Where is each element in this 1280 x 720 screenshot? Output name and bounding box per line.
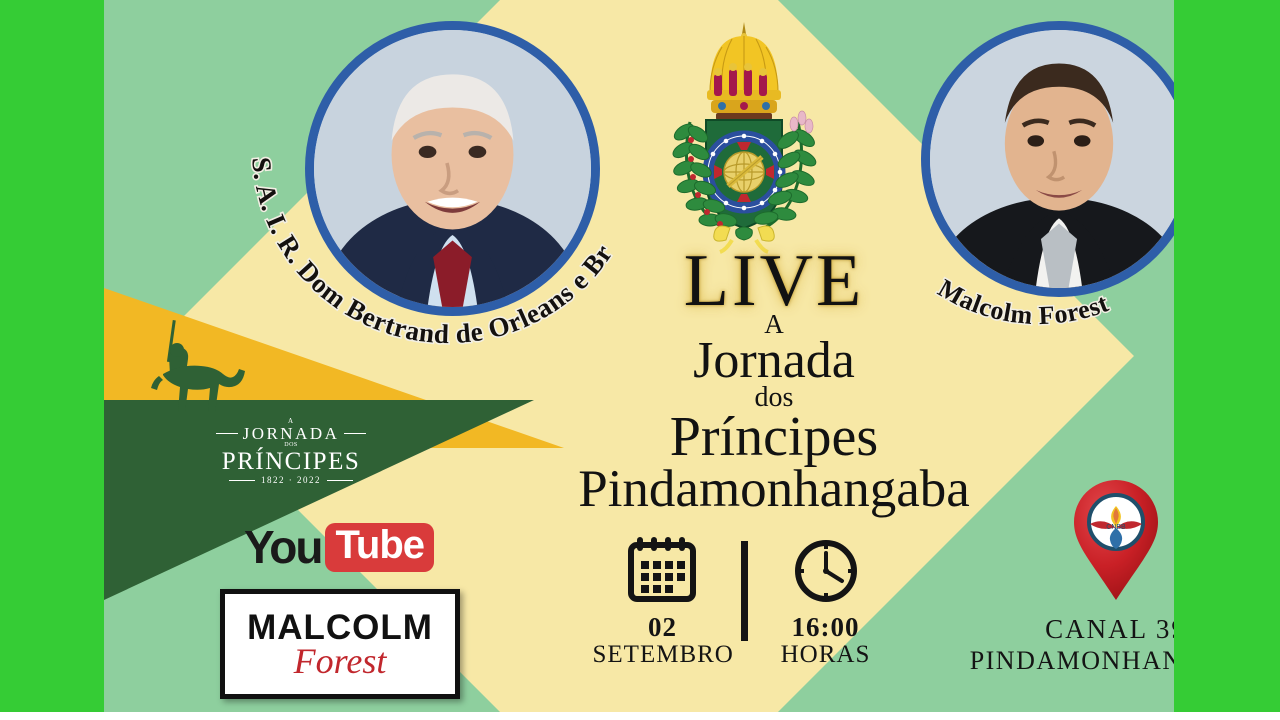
event-month: SETEMBRO — [593, 641, 733, 669]
title-block: LIVE A Jornada dos Príncipes Pindamonhan… — [494, 250, 1054, 516]
youtube-tube-badge: Tube — [325, 523, 434, 572]
youtube-you-text: You — [244, 520, 321, 574]
right-green-bar — [1174, 0, 1280, 712]
title-jornada: Jornada — [494, 336, 1054, 385]
jornada-logo-principes: PRÍNCIPES — [216, 449, 366, 474]
map-pin-icon: CNBB — [1068, 478, 1164, 602]
title-live: LIVE — [494, 250, 1054, 313]
datetime-divider — [741, 541, 748, 641]
brazilian-imperial-coat-of-arms — [644, 14, 844, 264]
event-datetime-block: 02 SETEMBRO 16:00 — [584, 535, 904, 669]
jornada-logo-rule-right — [344, 433, 366, 434]
poster-canvas: A JORNADA DOS PRÍNCIPES 1822 · 2022 You … — [0, 0, 1280, 720]
malcolm-forest-logo-inner: MALCOLM Forest — [225, 594, 455, 694]
jornada-logo-years-rule-left — [229, 480, 255, 481]
malcolm-forest-logo[interactable]: MALCOLM Forest — [220, 589, 460, 699]
youtube-logo[interactable]: You Tube — [244, 520, 434, 574]
jornada-logo-rule-left — [216, 433, 238, 434]
event-time-column: 16:00 HORAS — [756, 535, 896, 669]
jornada-logo-years: 1822 · 2022 — [261, 476, 321, 485]
clock-icon — [791, 535, 861, 603]
channel-name: CANAL 39 — [966, 613, 1174, 645]
event-time-label: HORAS — [756, 641, 896, 669]
title-principes: Príncipes — [494, 410, 1054, 465]
poster-inner-canvas: A JORNADA DOS PRÍNCIPES 1822 · 2022 You … — [104, 0, 1174, 712]
left-green-bar — [0, 0, 104, 712]
channel-city: PINDAMONHANGABA — [966, 645, 1174, 676]
jornada-logo-jornada: JORNADA — [243, 425, 340, 442]
channel-block: CNBB CANAL 39 PINDAMONHANGABA — [966, 478, 1174, 677]
jornada-logo-years-rule-right — [327, 480, 353, 481]
malcolm-forest-malcolm-text: MALCOLM — [247, 610, 433, 645]
event-date-column: 02 SETEMBRO — [593, 535, 733, 669]
event-day: 02 — [593, 614, 733, 641]
jornada-logo-years-row: 1822 · 2022 — [216, 476, 366, 485]
jornada-dos-principes-logo: A JORNADA DOS PRÍNCIPES 1822 · 2022 — [216, 418, 366, 485]
jornada-logo-title-row: JORNADA — [216, 425, 366, 442]
svg-text:CNBB: CNBB — [1106, 524, 1126, 531]
event-time: 16:00 — [756, 614, 896, 641]
malcolm-forest-forest-text: Forest — [294, 643, 387, 679]
calendar-icon — [627, 535, 699, 603]
